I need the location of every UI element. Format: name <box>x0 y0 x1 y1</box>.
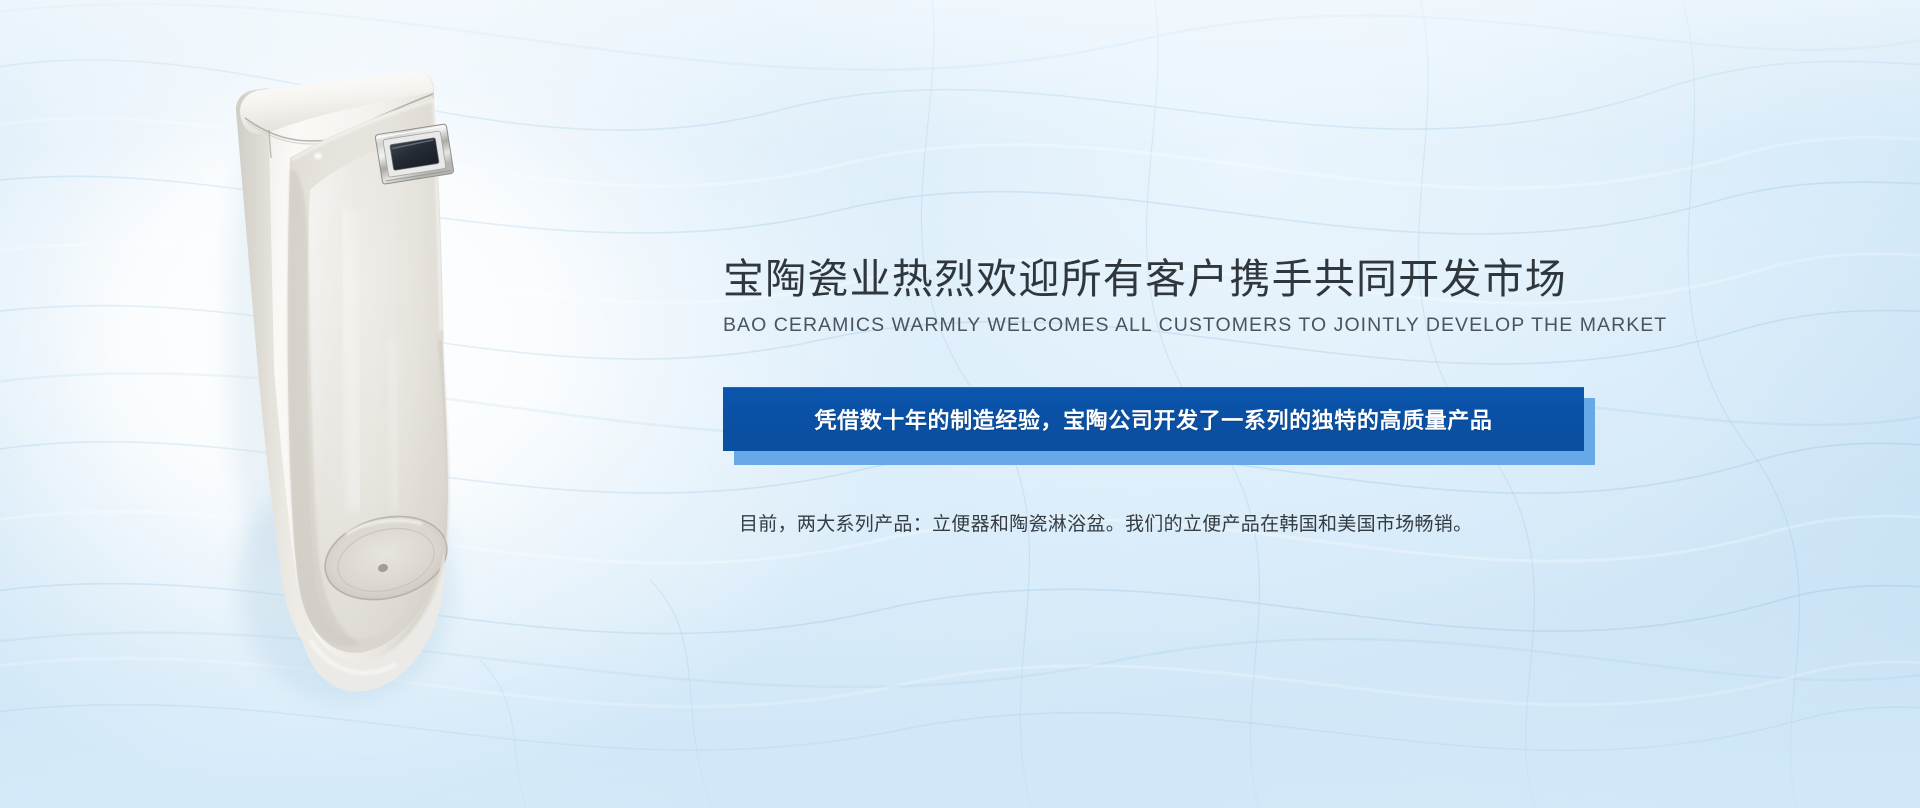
ribbon-bar: 凭借数十年的制造经验，宝陶公司开发了一系列的独特的高质量产品 <box>723 387 1584 451</box>
ribbon-label: 凭借数十年的制造经验，宝陶公司开发了一系列的独特的高质量产品 <box>814 403 1492 435</box>
page-subtitle: BAO CERAMICS WARMLY WELCOMES ALL CUSTOME… <box>723 314 1603 337</box>
highlight-ribbon: 凭借数十年的制造经验，宝陶公司开发了一系列的独特的高质量产品 <box>723 387 1595 465</box>
urinal-illustration <box>150 40 510 700</box>
page-title: 宝陶瓷业热烈欢迎所有客户携手共同开发市场 <box>723 255 1603 303</box>
hero-banner: 宝陶瓷业热烈欢迎所有客户携手共同开发市场 BAO CERAMICS WARMLY… <box>0 0 1920 808</box>
banner-paragraph: 目前，两大系列产品：立便器和陶瓷淋浴盆。我们的立便产品在韩国和美国市场畅销。 <box>739 509 1603 536</box>
banner-copy-block: 宝陶瓷业热烈欢迎所有客户携手共同开发市场 BAO CERAMICS WARMLY… <box>723 255 1603 536</box>
product-image-urinal <box>150 40 510 700</box>
infrared-sensor <box>375 124 454 185</box>
